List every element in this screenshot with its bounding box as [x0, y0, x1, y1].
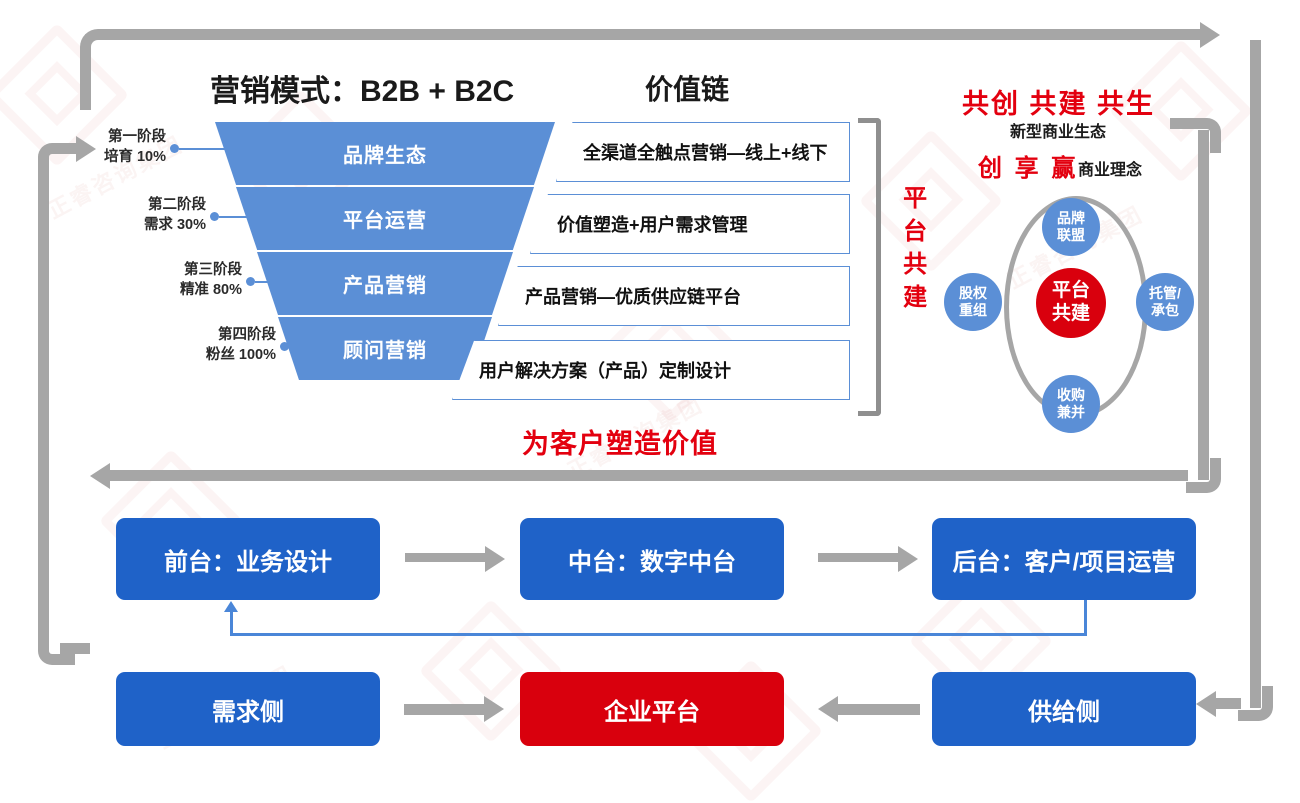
funnel-stage-4-caption: 第四阶段 粉丝 100% — [180, 326, 276, 365]
value-chain-item-1[interactable]: 全渠道全触点营销—线上+线下 — [556, 122, 850, 182]
platform-arrow-1-head — [485, 546, 505, 572]
feedback-loop-arrowhead — [224, 601, 238, 612]
market-box-platform-label: 企业平台 — [604, 692, 700, 727]
funnel-stage-2-leader — [219, 216, 259, 218]
ecosystem-center-node[interactable]: 平台共建 — [1036, 268, 1106, 338]
market-arrow-demand-shaft — [404, 704, 486, 715]
market-box-demand-label: 需求侧 — [212, 692, 284, 727]
flow-right-lower-corner — [1186, 458, 1221, 493]
ecosystem-headline: 共创 共建 共生 — [962, 82, 1155, 121]
value-chain-item-1-label: 全渠道全触点营销—线上+线下 — [583, 139, 828, 165]
value-chain-item-3-label: 产品营销—优质供应链平台 — [525, 283, 741, 309]
ecosystem-headline-sub: 新型商业生态 — [1010, 118, 1106, 142]
platform-arrow-1-shaft — [405, 553, 487, 562]
funnel-stage-3-metric: 精准 80% — [152, 281, 242, 301]
flow-outer-right-bottom-corner — [1238, 686, 1273, 721]
platform-cooperation-label: 平台共建 — [896, 185, 924, 317]
funnel-segment-1[interactable]: 品牌生态 — [215, 122, 555, 185]
ecosystem-node-left[interactable]: 股权重组 — [944, 273, 1002, 331]
value-chain-item-2-label: 价值塑造+用户需求管理 — [557, 211, 748, 237]
flow-outer-bottom-arrowhead — [1196, 691, 1216, 717]
flow-return-arrowhead — [90, 463, 110, 489]
flow-outer-bottom-horizontal — [1215, 698, 1241, 709]
funnel-stage-2-metric: 需求 30% — [120, 216, 206, 236]
ecosystem-node-bottom-label: 收购兼并 — [1054, 387, 1088, 420]
market-box-supply[interactable]: 供给侧 — [932, 672, 1196, 746]
funnel-stage-4-dot — [280, 342, 289, 351]
funnel-stage-3-name: 第三阶段 — [152, 261, 242, 281]
value-chain-item-3[interactable]: 产品营销—优质供应链平台 — [498, 266, 850, 326]
funnel-stage-2-name: 第二阶段 — [120, 196, 206, 216]
funnel-stage-3-caption: 第三阶段 精准 80% — [152, 261, 242, 300]
funnel-stage-1-caption: 第一阶段 培育 10% — [80, 128, 166, 167]
ecosystem-node-top-label: 品牌联盟 — [1054, 210, 1088, 243]
platform-box-front[interactable]: 前台：业务设计 — [116, 518, 380, 600]
ecosystem-concept-sub: 商业理念 — [1078, 156, 1142, 180]
funnel-stage-4-metric: 粉丝 100% — [180, 346, 276, 366]
funnel-segment-1-label: 品牌生态 — [343, 139, 427, 168]
market-box-supply-label: 供给侧 — [1028, 692, 1100, 727]
value-chain-item-2[interactable]: 价值塑造+用户需求管理 — [530, 194, 850, 254]
platform-box-back[interactable]: 后台：客户/项目运营 — [932, 518, 1196, 600]
page-title-marketing-mode: 营销模式：B2B + B2C — [210, 66, 514, 110]
flow-right-upper-corner — [1186, 118, 1221, 153]
ecosystem-node-left-label: 股权重组 — [956, 285, 990, 318]
funnel-stage-1-metric: 培育 10% — [80, 148, 166, 168]
market-arrow-supply-shaft — [838, 704, 920, 715]
feedback-loop-right-vertical — [1084, 600, 1087, 636]
flow-top-left-vertical — [80, 58, 91, 110]
flow-right-upper-horizontal — [1170, 118, 1190, 129]
market-box-demand[interactable]: 需求侧 — [116, 672, 380, 746]
platform-box-middle-label: 中台：数字中台 — [568, 542, 736, 577]
funnel-segment-4[interactable]: 顾问营销 — [278, 317, 492, 380]
value-chain-item-4[interactable]: 用户解决方案（产品）定制设计 — [452, 340, 850, 400]
market-arrow-demand-head — [484, 696, 504, 722]
platform-cooperation-bracket — [858, 118, 881, 416]
funnel-stage-4-name: 第四阶段 — [180, 326, 276, 346]
funnel-segment-3[interactable]: 产品营销 — [257, 252, 513, 315]
funnel-stage-3-leader — [255, 281, 285, 283]
feedback-loop-horizontal — [230, 633, 1087, 636]
funnel-stage-1-name: 第一阶段 — [80, 128, 166, 148]
feedback-loop-left-vertical — [230, 612, 233, 636]
flow-right-upper-vertical — [1198, 130, 1209, 480]
flow-outer-right-vertical — [1250, 40, 1261, 708]
platform-box-front-label: 前台：业务设计 — [164, 542, 332, 577]
platform-arrow-2-head — [898, 546, 918, 572]
value-chain-item-4-label: 用户解决方案（产品）定制设计 — [479, 357, 731, 383]
flow-top-horizontal — [112, 29, 1202, 40]
platform-arrow-2-shaft — [818, 553, 900, 562]
market-arrow-supply-head — [818, 696, 838, 722]
platform-box-back-label: 后台：客户/项目运营 — [953, 542, 1176, 577]
diagram-canvas: 正睿咨询集团 正睿咨询集团 正睿咨询集团 正睿咨询集团 营销模式：B2B + B… — [0, 0, 1300, 786]
funnel-stage-1-leader — [179, 148, 229, 150]
funnel-segment-2[interactable]: 平台运营 — [236, 187, 534, 250]
flow-top-arrowhead — [1200, 22, 1220, 48]
funnel-segment-2-label: 平台运营 — [343, 204, 427, 233]
page-title-value-chain: 价值链 — [645, 68, 729, 108]
funnel-stage-2-dot — [210, 212, 219, 221]
funnel-stage-1-dot — [170, 144, 179, 153]
ecosystem-node-bottom[interactable]: 收购兼并 — [1042, 375, 1100, 433]
flow-left-vertical — [38, 165, 49, 645]
ecosystem-node-top[interactable]: 品牌联盟 — [1042, 198, 1100, 256]
funnel-stage-3-dot — [246, 277, 255, 286]
funnel-stage-4-leader — [289, 346, 311, 348]
flow-return-horizontal — [110, 470, 1188, 481]
flow-bottom-left-horizontal — [60, 643, 90, 654]
funnel-segment-4-label: 顾问营销 — [343, 334, 427, 363]
value-statement: 为客户塑造价值 — [522, 422, 718, 461]
market-box-platform[interactable]: 企业平台 — [520, 672, 784, 746]
funnel-stage-2-caption: 第二阶段 需求 30% — [120, 196, 206, 235]
ecosystem-center-label: 平台共建 — [1050, 280, 1092, 326]
ecosystem-concept: 创 享 赢 — [978, 148, 1078, 183]
funnel-segment-3-label: 产品营销 — [343, 269, 427, 298]
ecosystem-node-right[interactable]: 托管/承包 — [1136, 273, 1194, 331]
ecosystem-node-right-label: 托管/承包 — [1146, 285, 1184, 318]
platform-cooperation-label-text: 平台共建 — [896, 185, 928, 317]
platform-box-middle[interactable]: 中台：数字中台 — [520, 518, 784, 600]
